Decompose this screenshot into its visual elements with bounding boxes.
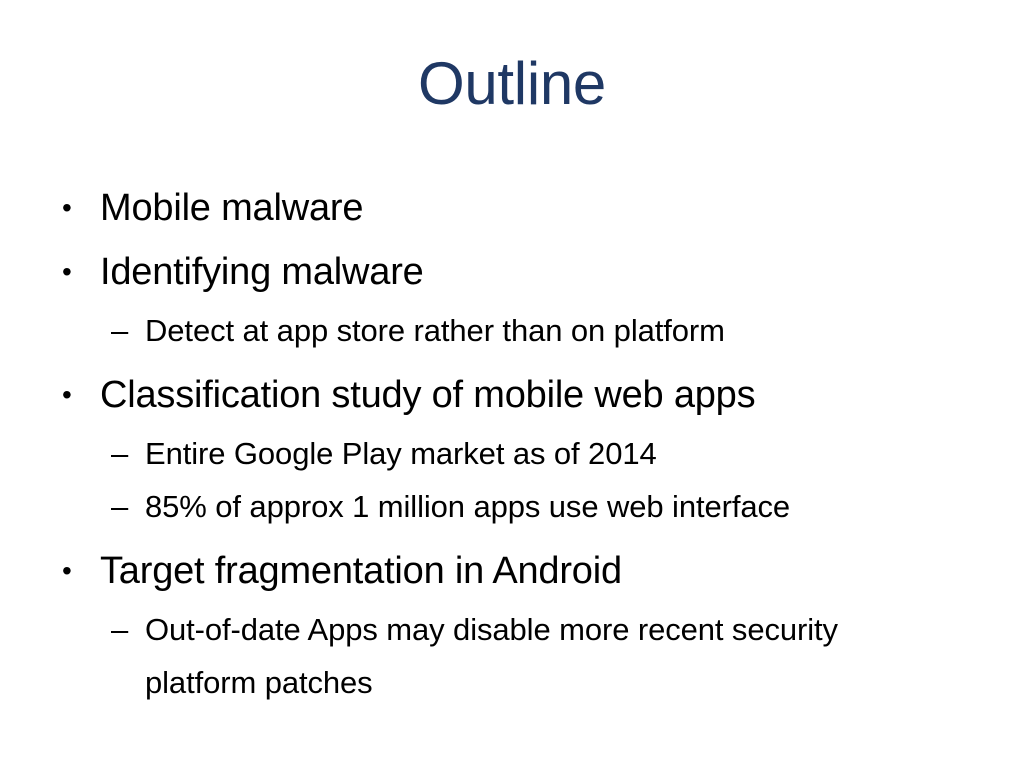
bullet-dot-icon: • xyxy=(62,363,86,427)
sub-list-item[interactable]: – Detect at app store rather than on pla… xyxy=(0,304,1024,357)
sub-list-item-label: Out-of-date Apps may disable more recent… xyxy=(145,603,844,709)
list-item-label: Identifying malware xyxy=(100,240,984,304)
sub-list-item-label: Entire Google Play market as of 2014 xyxy=(145,427,964,480)
sub-list-item[interactable]: – Out-of-date Apps may disable more rece… xyxy=(0,603,1024,709)
list-item-label: Target fragmentation in Android xyxy=(100,539,984,603)
bullet-dot-icon: • xyxy=(62,539,86,603)
list-item[interactable]: • Mobile malware xyxy=(0,176,1024,240)
bullet-dash-icon: – xyxy=(111,603,139,656)
bullet-dash-icon: – xyxy=(111,427,139,480)
bullet-list: • Mobile malware • Identifying malware –… xyxy=(0,176,1024,709)
sub-list-item[interactable]: – 85% of approx 1 million apps use web i… xyxy=(0,480,1024,533)
list-item-label: Classification study of mobile web apps xyxy=(100,363,984,427)
list-item[interactable]: • Identifying malware xyxy=(0,240,1024,304)
sub-list-item-label: 85% of approx 1 million apps use web int… xyxy=(145,480,964,533)
sub-list-item[interactable]: – Entire Google Play market as of 2014 xyxy=(0,427,1024,480)
bullet-dash-icon: – xyxy=(111,304,139,357)
list-item[interactable]: • Target fragmentation in Android xyxy=(0,539,1024,603)
slide: Outline • Mobile malware • Identifying m… xyxy=(0,0,1024,768)
page-title: Outline xyxy=(0,52,1024,115)
bullet-dot-icon: • xyxy=(62,240,86,304)
sub-list-item-label: Detect at app store rather than on platf… xyxy=(145,304,964,357)
bullet-dash-icon: – xyxy=(111,480,139,533)
bullet-dot-icon: • xyxy=(62,176,86,240)
list-item-label: Mobile malware xyxy=(100,176,984,240)
list-item[interactable]: • Classification study of mobile web app… xyxy=(0,363,1024,427)
